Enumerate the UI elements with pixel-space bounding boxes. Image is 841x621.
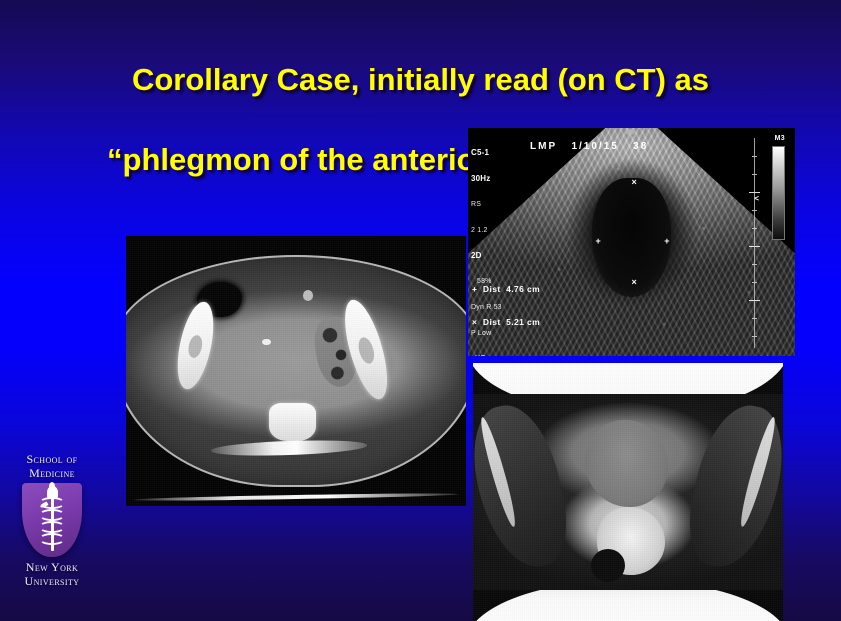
ultrasound-header-row: LMP 1/10/15 38 xyxy=(530,141,648,152)
nyu-school-of-medicine-logo: School of Medicine New York University xyxy=(8,452,96,588)
ultrasound-caliper-top: × xyxy=(632,178,637,187)
presentation-slide: Corollary Case, initially read (on CT) a… xyxy=(0,0,841,621)
ultrasound-dist-value-2: 5.21 cm xyxy=(506,317,540,327)
ultrasound-dist-label-2: Dist xyxy=(483,317,501,327)
ct-vessel-marker xyxy=(303,290,313,301)
ct-sacrum xyxy=(269,403,317,441)
ct-vessel-marker xyxy=(262,339,271,346)
ultrasound-map-label: HGen xyxy=(471,355,502,356)
ultrasound-probe-marker xyxy=(625,129,635,135)
ultrasound-lmp-label: LMP xyxy=(530,141,557,152)
ultrasound-caliper-glyph-1: + xyxy=(472,284,477,294)
shield-emblem xyxy=(22,483,82,557)
ultrasound-dist-value-1: 4.76 cm xyxy=(506,284,540,294)
ultrasound-caliper-bottom: × xyxy=(632,278,637,287)
ultrasound-header-number: 38 xyxy=(633,141,648,152)
ultrasound-framerate-label: 30Hz xyxy=(471,175,502,184)
ultrasound-mode-label: 2D xyxy=(471,252,502,261)
ultrasound-measurement-row: × Dist 5.21 cm xyxy=(472,317,540,328)
ultrasound-measurements: + Dist 4.76 cm × Dist 5.21 cm xyxy=(472,262,540,350)
ultrasound-caliper-left: + xyxy=(596,237,601,246)
ultrasound-rs-label: RS xyxy=(471,201,502,210)
ultrasound-grayscale-bar xyxy=(772,146,785,240)
flame-icon xyxy=(49,482,55,491)
ultrasound-caliper-glyph-2: × xyxy=(472,317,477,327)
title-line-1: Corollary Case, initially read (on CT) a… xyxy=(0,60,841,100)
ultrasound-depth-scale xyxy=(754,138,755,348)
ultrasound-grayscale-label: M3 xyxy=(775,135,785,142)
logo-bottom-text: New York University xyxy=(8,560,96,588)
ultrasound-probe-label: C5-1 xyxy=(471,149,502,158)
ct-scan-image xyxy=(126,236,466,506)
logo-top-text: School of Medicine xyxy=(8,452,96,480)
ultrasound-measurement-row: + Dist 4.76 cm xyxy=(472,284,540,295)
ultrasound-depth-label: 2 1.2 xyxy=(471,227,502,236)
ultrasound-focus-marker: < xyxy=(754,194,759,203)
ultrasound-dist-label-1: Dist xyxy=(483,284,501,294)
mri-rectum xyxy=(591,549,625,583)
serpent-icon xyxy=(39,497,65,545)
ultrasound-caliper-right: + xyxy=(664,237,669,246)
mri-scan-image xyxy=(473,363,783,621)
ultrasound-image: C5-1 30Hz RS 2 1.2 2D 58% Dyn R 53 P Low… xyxy=(468,128,795,356)
ultrasound-lmp-date: 1/10/15 xyxy=(571,141,618,152)
